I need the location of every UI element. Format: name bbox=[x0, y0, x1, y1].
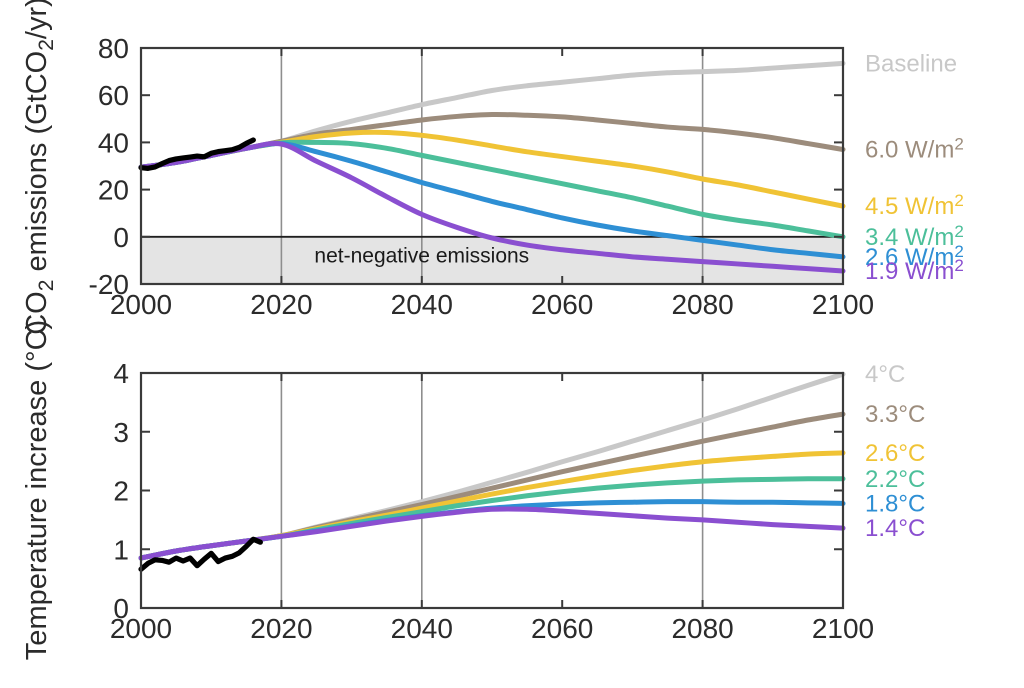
ytick-label-0: 0 bbox=[113, 222, 129, 253]
ytick-label-60: 60 bbox=[98, 80, 129, 111]
y-axis-title-emissions: CO2 emissions (GtCO2/yr) bbox=[21, 0, 58, 335]
xtick-label-2020: 2020 bbox=[250, 613, 312, 644]
ytick-label-4: 4 bbox=[113, 358, 129, 389]
xtick-label-2060: 2060 bbox=[531, 613, 593, 644]
net-negative-emissions-label: net-negative emissions bbox=[314, 245, 529, 268]
xtick-label-2100: 2100 bbox=[812, 613, 874, 644]
xtick-label-2040: 2040 bbox=[391, 289, 453, 320]
xtick-label-2060: 2060 bbox=[531, 289, 593, 320]
xtick-label-2080: 2080 bbox=[671, 613, 733, 644]
series-label-baseline: Baseline bbox=[865, 50, 957, 77]
temperature-panel: 200020202040206020802100012344°C3.3°C2.6… bbox=[110, 358, 925, 644]
ytick-label-2: 2 bbox=[113, 476, 129, 507]
climate-scenarios-figure: net-negative emissions200020202040206020… bbox=[0, 0, 1024, 683]
historical-line bbox=[141, 140, 253, 168]
series-label-4-5-w-m2: 4.5 W/m2 bbox=[865, 191, 964, 220]
series-line-1-4c bbox=[141, 509, 843, 558]
ytick-label--20: -20 bbox=[89, 269, 129, 300]
ytick-label-20: 20 bbox=[98, 175, 129, 206]
xtick-label-2020: 2020 bbox=[250, 289, 312, 320]
series-line-3-3c bbox=[141, 414, 843, 558]
series-label-6-0-w-m2: 6.0 W/m2 bbox=[865, 134, 964, 163]
xtick-label-2100: 2100 bbox=[812, 289, 874, 320]
series-line-4c bbox=[141, 374, 843, 558]
series-label-1-9-w-m2: 1.9 W/m2 bbox=[865, 256, 964, 285]
emissions-panel: net-negative emissions200020202040206020… bbox=[89, 33, 964, 320]
xtick-label-2080: 2080 bbox=[671, 289, 733, 320]
y-axis-title-temperature: Temperature increase (°C) bbox=[21, 320, 53, 660]
series-label-1-4c: 1.4°C bbox=[865, 515, 925, 542]
ytick-label-80: 80 bbox=[98, 33, 129, 64]
series-label-2-6c: 2.6°C bbox=[865, 440, 925, 467]
ytick-label-1: 1 bbox=[113, 534, 129, 565]
figure-svg: net-negative emissions200020202040206020… bbox=[0, 0, 1024, 683]
series-label-1-8c: 1.8°C bbox=[865, 490, 925, 517]
series-label-3-3c: 3.3°C bbox=[865, 401, 925, 428]
ytick-label-0: 0 bbox=[113, 593, 129, 624]
ytick-label-40: 40 bbox=[98, 127, 129, 158]
xtick-label-2040: 2040 bbox=[391, 613, 453, 644]
ytick-label-3: 3 bbox=[113, 417, 129, 448]
series-label-4c: 4°C bbox=[865, 361, 905, 388]
series-line-3-4-w-m2 bbox=[141, 142, 843, 237]
series-label-2-2c: 2.2°C bbox=[865, 466, 925, 493]
